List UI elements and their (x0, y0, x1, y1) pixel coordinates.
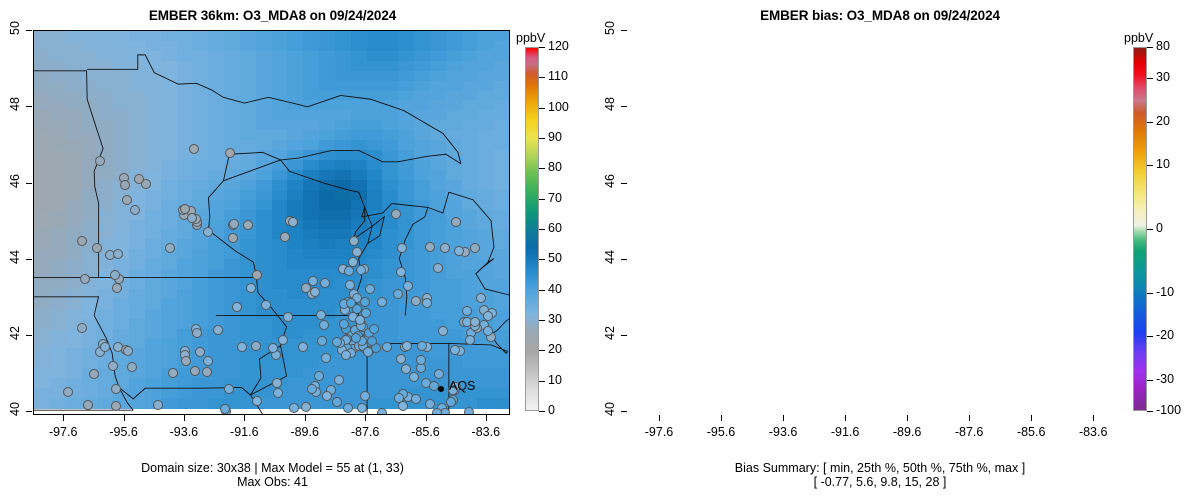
colorbar-tick-label: 70 (548, 191, 562, 205)
x-tick-label: -85.6 (1001, 425, 1061, 439)
x-tick-label: -93.6 (154, 425, 214, 439)
model-caption-line1: Domain size: 30x38 | Max Model = 55 at (… (0, 461, 545, 475)
colorbar-tick-label: 30 (548, 312, 562, 326)
page-title: EMBER 36km: O3_MDA8 on 09/24/2024 (0, 8, 545, 23)
y-tick-label: 46 (8, 167, 22, 195)
colorbar-tick-label: 90 (548, 130, 562, 144)
x-tick-label: -91.6 (815, 425, 875, 439)
y-tick-label: 42 (8, 319, 22, 347)
colorbar-tick-label: 20 (1156, 114, 1170, 128)
colorbar-tick-label: 110 (548, 69, 568, 83)
x-tick-label: -83.6 (1063, 425, 1123, 439)
colorbar-tick-label: 60 (548, 221, 562, 235)
bias-colorbar-title: ppbV (1124, 31, 1153, 45)
colorbar-tick-label: 80 (1156, 39, 1170, 53)
panel-model: EMBER 36km: O3_MDA8 on 09/24/2024 AQS 40… (0, 0, 600, 502)
colorbar-tick-label: 50 (548, 251, 562, 265)
x-tick-label: -83.6 (456, 425, 516, 439)
model-caption-line2: Max Obs: 41 (0, 475, 545, 489)
colorbar-tick-label: 0 (1156, 221, 1163, 235)
x-tick-label: -97.6 (629, 425, 689, 439)
model-colorbar[interactable] (525, 47, 539, 411)
colorbar-tick-label: 80 (548, 160, 562, 174)
x-tick-label: -91.6 (214, 425, 274, 439)
colorbar-tick-label: 30 (1156, 70, 1170, 84)
x-tick-label: -87.6 (335, 425, 395, 439)
aqs-legend-dot (438, 386, 444, 392)
y-tick-label: 48 (8, 90, 22, 118)
colorbar-tick-label: 120 (548, 39, 569, 53)
x-tick-label: -97.6 (33, 425, 93, 439)
colorbar-tick-label: -30 (1156, 372, 1174, 386)
colorbar-tick-label: 40 (548, 282, 562, 296)
y-tick-label: 44 (603, 243, 617, 271)
y-tick-label: 48 (603, 90, 617, 118)
bias-colorbar[interactable] (1133, 47, 1147, 411)
x-tick-label: -93.6 (753, 425, 813, 439)
colorbar-tick-label: 10 (1156, 157, 1170, 171)
colorbar-tick-label: 10 (548, 373, 562, 387)
y-tick-label: 46 (603, 167, 617, 195)
y-tick-label: 50 (603, 14, 617, 42)
x-tick-label: -95.6 (691, 425, 751, 439)
colorbar-tick-label: 100 (548, 100, 569, 114)
y-tick-label: 50 (8, 14, 22, 42)
y-tick-label: 40 (8, 395, 22, 423)
x-tick-label: -87.6 (939, 425, 999, 439)
x-tick-label: -89.6 (275, 425, 335, 439)
bias-caption-line1: Bias Summary: [ min, 25th %, 50th %, 75t… (600, 461, 1160, 475)
y-tick-label: 40 (603, 395, 617, 423)
colorbar-tick-label: -20 (1156, 328, 1174, 342)
model-map-plot[interactable]: AQS (33, 30, 510, 415)
colorbar-tick-label: 0 (548, 403, 555, 417)
panel-bias: EMBER bias: O3_MDA8 on 09/24/2024 AQS 40… (600, 0, 1200, 502)
x-tick-label: -89.6 (877, 425, 937, 439)
y-tick-label: 44 (8, 243, 22, 271)
aqs-legend-label: AQS (449, 379, 475, 393)
model-colorbar-title: ppbV (516, 31, 545, 45)
colorbar-tick-label: -100 (1156, 403, 1181, 417)
bias-page-title: EMBER bias: O3_MDA8 on 09/24/2024 (600, 8, 1160, 23)
colorbar-tick-label: -10 (1156, 285, 1174, 299)
y-tick-label: 42 (603, 319, 617, 347)
x-tick-label: -85.6 (396, 425, 456, 439)
bias-caption-line2: [ -0.77, 5.6, 9.8, 15, 28 ] (600, 475, 1160, 489)
x-tick-label: -95.6 (94, 425, 154, 439)
colorbar-tick-label: 20 (548, 342, 562, 356)
